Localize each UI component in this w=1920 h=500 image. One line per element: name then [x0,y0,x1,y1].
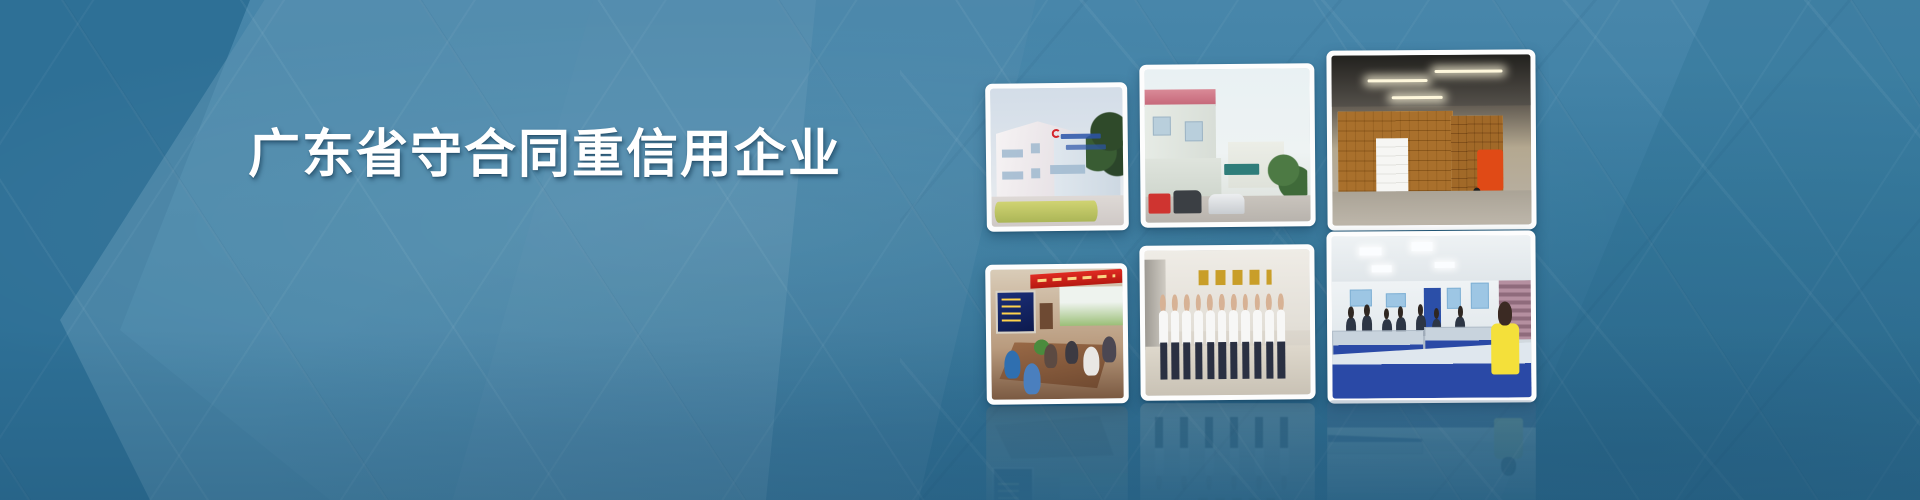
company-banner: 广东省守合同重信用企业 [0,0,1920,500]
photo-frame-staff-team-group-photo[interactable] [1139,244,1315,401]
photo-frame-production-plant-exterior[interactable] [1139,63,1315,228]
photo-image-open-plan-office [1331,235,1531,398]
photo-frame-conference-meeting-room[interactable] [985,263,1129,405]
banner-headline: 广东省守合同重信用企业 [248,126,842,186]
photo-image-conference-meeting-room [990,268,1124,400]
photo-image-production-plant-exterior [1144,68,1310,222]
photo-image-staff-team-group-photo [1144,249,1310,395]
photo-frame-factory-building-exterior[interactable] [985,82,1129,232]
company-photo-grid [972,28,1672,448]
photo-reflection-conference-meeting-room [986,406,1128,500]
photo-image-factory-building-exterior [990,87,1124,227]
photo-image-raw-material-warehouse [1331,54,1531,225]
photo-frame-raw-material-warehouse[interactable] [1326,49,1536,230]
photo-reflection-staff-team-group-photo [1140,403,1315,500]
photo-frame-open-plan-office[interactable] [1326,230,1536,403]
photo-reflection-open-plan-office [1327,400,1536,500]
